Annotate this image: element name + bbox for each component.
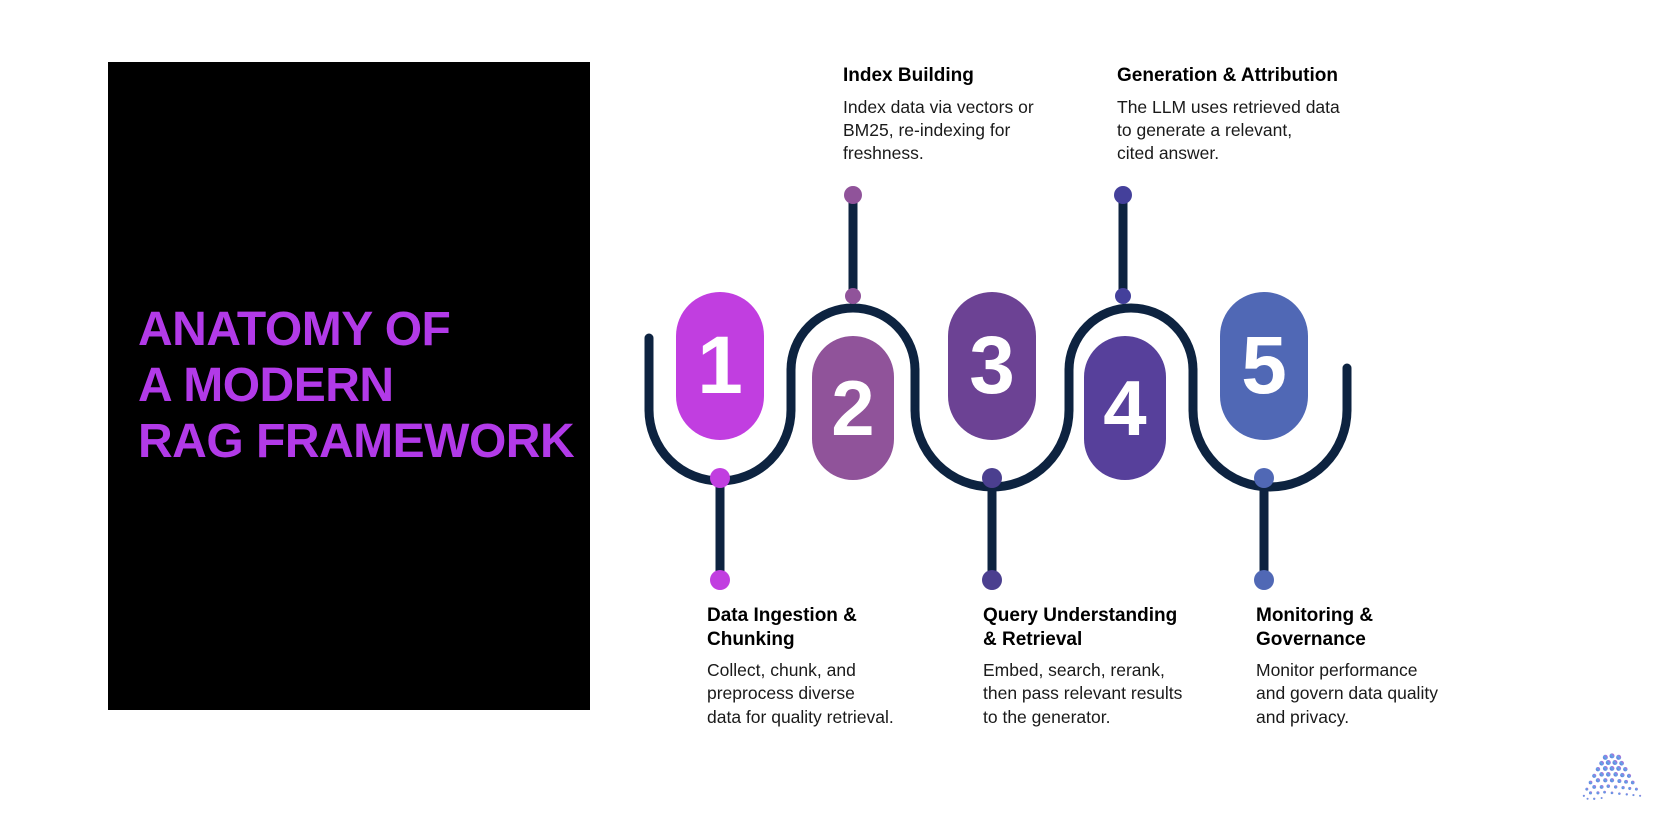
step-number-5: 5 <box>1241 325 1287 407</box>
step-text-block-3: Query Understanding & Retrieval Embed, s… <box>983 604 1218 729</box>
step-text-block-2: Index Building Index data via vectors or… <box>843 64 1073 165</box>
step-description-5: Monitor performance and govern data qual… <box>1256 659 1486 729</box>
step-heading-1: Data Ingestion & Chunking <box>707 604 937 651</box>
step-text-block-1: Data Ingestion & Chunking Collect, chunk… <box>707 604 937 729</box>
step-number-3: 3 <box>969 325 1015 407</box>
step-text-block-4: Generation & Attribution The LLM uses re… <box>1117 64 1367 165</box>
step-pill-1[interactable]: 1 <box>676 292 764 440</box>
page-title: Anatomy of A Modern RAG Framework <box>108 302 574 470</box>
title-panel: Anatomy of A Modern RAG Framework <box>108 62 590 710</box>
step-description-1: Collect, chunk, and preprocess diverse d… <box>707 659 937 729</box>
step-heading-3: Query Understanding & Retrieval <box>983 604 1218 651</box>
arrow-dots-logo <box>1575 744 1649 818</box>
step-text-block-5: Monitoring & Governance Monitor performa… <box>1256 604 1486 729</box>
step-heading-2: Index Building <box>843 64 1073 88</box>
step-number-4: 4 <box>1103 369 1146 447</box>
step-pill-2[interactable]: 2 <box>812 336 894 480</box>
step-pill-3[interactable]: 3 <box>948 292 1036 440</box>
step-description-2: Index data via vectors or BM25, re-index… <box>843 96 1073 166</box>
step-heading-4: Generation & Attribution <box>1117 64 1367 88</box>
step-number-1: 1 <box>697 325 743 407</box>
step-pill-5[interactable]: 5 <box>1220 292 1308 440</box>
step-pill-4[interactable]: 4 <box>1084 336 1166 480</box>
step-description-3: Embed, search, rerank, then pass relevan… <box>983 659 1218 729</box>
step-number-2: 2 <box>831 369 874 447</box>
step-description-4: The LLM uses retrieved data to generate … <box>1117 96 1367 166</box>
step-heading-5: Monitoring & Governance <box>1256 604 1486 651</box>
infographic-canvas: Anatomy of A Modern RAG Framework <box>0 0 1667 834</box>
